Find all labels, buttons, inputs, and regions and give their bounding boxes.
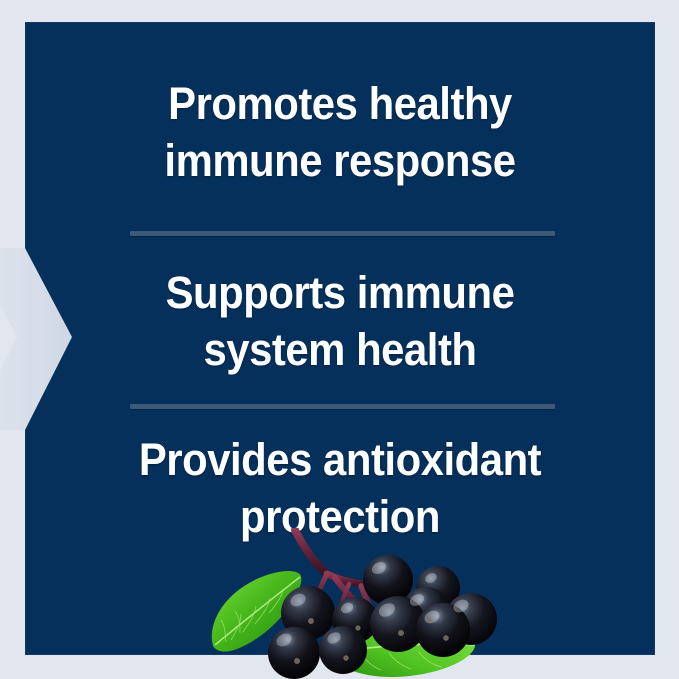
- elderberry-cluster-icon: [185, 528, 500, 679]
- divider-1: [130, 231, 555, 236]
- divider-2: [130, 404, 555, 409]
- benefit-item-1: Promotes healthy immune response: [47, 76, 633, 189]
- benefit-item-2: Supports immune system health: [47, 265, 633, 378]
- product-benefits-graphic: Promotes healthy immune response Support…: [0, 0, 679, 679]
